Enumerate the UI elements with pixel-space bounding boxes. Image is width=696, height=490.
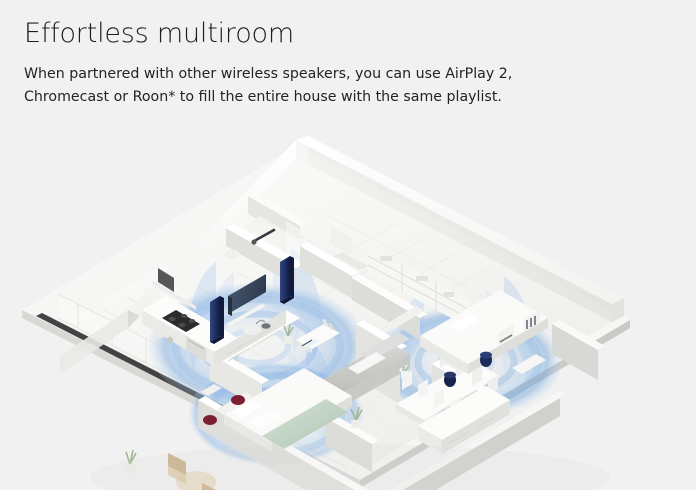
apartment-floorplan-illustration: [0, 128, 696, 490]
page-description: When partnered with other wireless speak…: [24, 63, 614, 109]
tower-speaker: [280, 256, 294, 304]
speaker: [480, 352, 492, 367]
accent-pillow: [203, 415, 217, 425]
floorplan-svg: [0, 128, 696, 490]
description-line-2: Chromecast or Roon* to fill the entire h…: [24, 86, 614, 109]
accent-pillow: [231, 395, 245, 405]
description-line-1: When partnered with other wireless speak…: [24, 63, 614, 86]
marketing-text-block: Effortless multiroom When partnered with…: [24, 18, 644, 109]
tower-speaker: [210, 296, 224, 344]
promo-page: Effortless multiroom When partnered with…: [0, 0, 696, 490]
washbasin: [224, 249, 240, 258]
page-title: Effortless multiroom: [24, 18, 644, 49]
speaker: [444, 372, 456, 387]
